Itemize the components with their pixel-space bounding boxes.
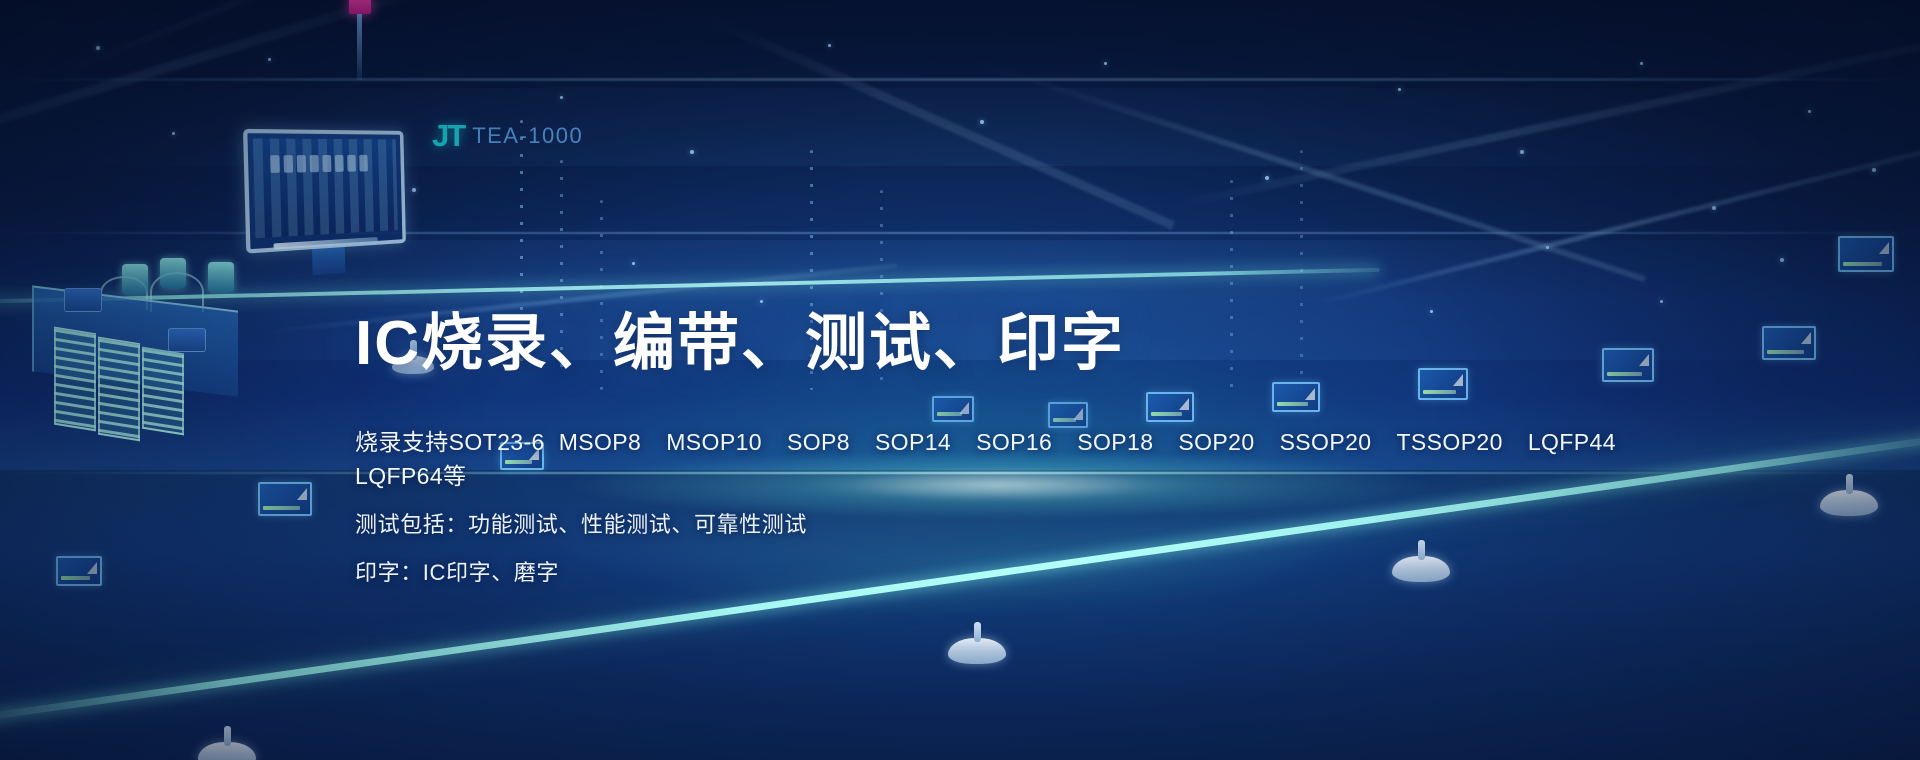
package-lqfp64: LQFP64等 bbox=[355, 457, 466, 491]
package-tssop20: TSSOP20 bbox=[1396, 429, 1502, 456]
package-sop18: SOP18 bbox=[1077, 429, 1153, 456]
package-ssop20: SSOP20 bbox=[1280, 429, 1372, 456]
print-scope-line: 印字：IC印字、磨字 bbox=[355, 555, 1655, 587]
burn-lead-label: 烧录支持SOT23-6 bbox=[355, 423, 545, 457]
package-msop8: MSOP8 bbox=[559, 429, 642, 456]
package-sop14: SOP14 bbox=[875, 429, 951, 456]
banner-content: IC烧录、编带、测试、印字 烧录支持SOT23-6 MSOP8 MSOP10 S… bbox=[355, 312, 1655, 587]
package-sop8: SOP8 bbox=[787, 429, 850, 456]
ic-service-banner: JT TEA-1000 IC烧录、编带、测试、印字 烧录支持SOT23-6 MS… bbox=[0, 0, 1920, 760]
test-scope-line: 测试包括：功能测试、性能测试、可靠性测试 bbox=[355, 507, 1655, 539]
package-lqfp44: LQFP44 bbox=[1528, 429, 1616, 456]
package-sop16: SOP16 bbox=[976, 429, 1052, 456]
package-msop10: MSOP10 bbox=[666, 429, 762, 456]
package-sop20: SOP20 bbox=[1178, 429, 1254, 456]
page-title: IC烧录、编带、测试、印字 bbox=[355, 312, 1655, 375]
burn-support-line: 烧录支持SOT23-6 MSOP8 MSOP10 SOP8 SOP14 SOP1… bbox=[355, 423, 1655, 491]
